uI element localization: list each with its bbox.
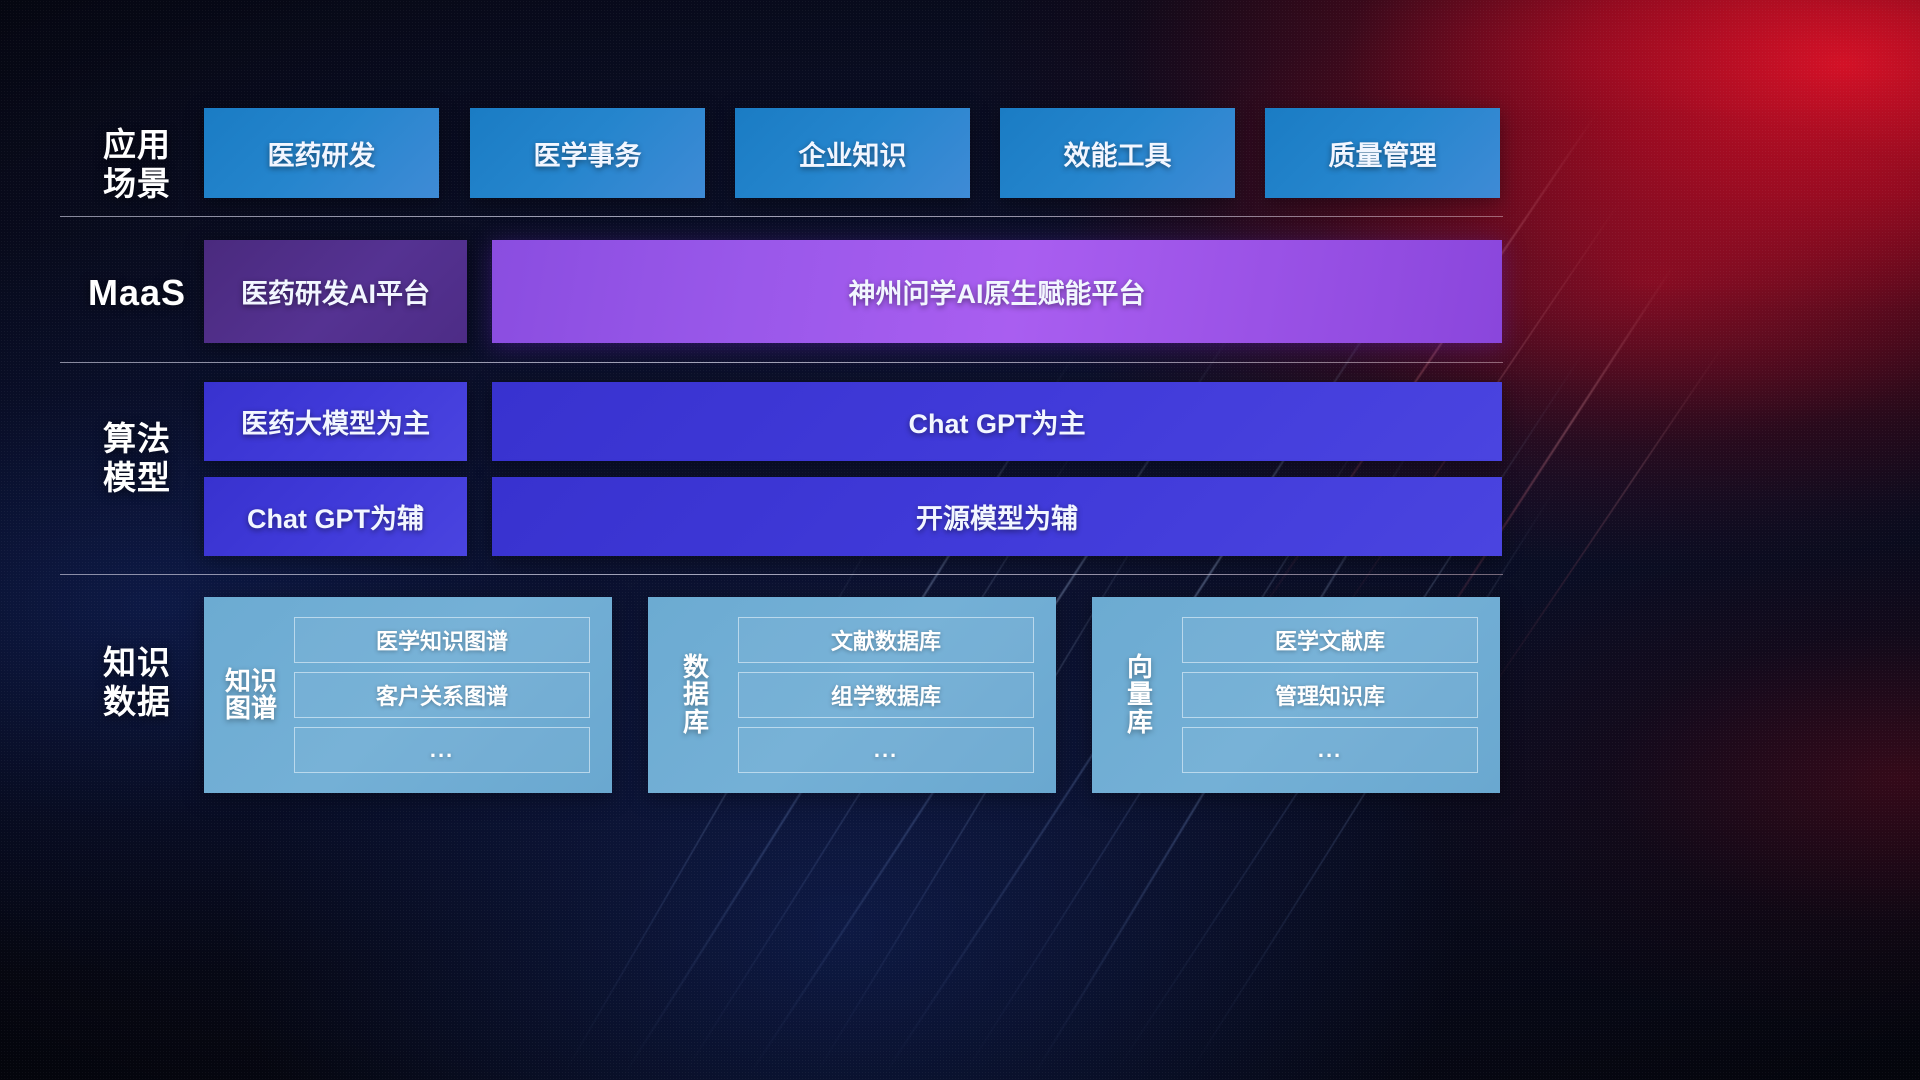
knowledge-item[interactable]: 组学数据库 — [738, 672, 1034, 718]
knowledge-group-3-label: 向量库 — [1120, 654, 1160, 735]
slide-canvas: 应用 场景 医药研发 医学事务 企业知识 效能工具 质量管理 MaaS 医药研发… — [0, 0, 1920, 1080]
scenario-box-3-label: 企业知识 — [799, 134, 907, 173]
knowledge-item[interactable]: 管理知识库 — [1182, 672, 1478, 718]
scenario-box-5[interactable]: 质量管理 — [1265, 108, 1500, 198]
knowledge-item-more[interactable]: ... — [294, 727, 590, 773]
knowledge-item-label: 客户关系图谱 — [376, 679, 508, 711]
algorithm-box-secondary-right[interactable]: 开源模型为辅 — [492, 477, 1502, 556]
knowledge-item[interactable]: 医学知识图谱 — [294, 617, 590, 663]
algorithm-box-primary-right[interactable]: Chat GPT为主 — [492, 382, 1502, 461]
knowledge-group-1-label: 知识图谱 — [220, 668, 282, 722]
knowledge-item-label: 医学文献库 — [1275, 624, 1385, 656]
knowledge-item[interactable]: 医学文献库 — [1182, 617, 1478, 663]
algorithm-box-secondary-left[interactable]: Chat GPT为辅 — [204, 477, 467, 556]
algorithm-box-primary-right-label: Chat GPT为主 — [908, 402, 1085, 441]
scenario-box-1-label: 医药研发 — [268, 134, 376, 173]
knowledge-item[interactable]: 客户关系图谱 — [294, 672, 590, 718]
knowledge-item-label: ... — [874, 737, 898, 763]
scenario-box-4[interactable]: 效能工具 — [1000, 108, 1235, 198]
algorithm-box-secondary-left-label: Chat GPT为辅 — [247, 497, 424, 536]
knowledge-group-knowledge-graph[interactable]: 知识图谱 医学知识图谱 客户关系图谱 ... — [204, 597, 612, 793]
scenario-box-3[interactable]: 企业知识 — [735, 108, 970, 198]
scenario-box-4-label: 效能工具 — [1064, 134, 1172, 173]
knowledge-group-vector-store[interactable]: 向量库 医学文献库 管理知识库 ... — [1092, 597, 1500, 793]
row-label-knowledge-data: 知识 数据 — [78, 644, 196, 722]
scenario-box-5-label: 质量管理 — [1329, 134, 1437, 173]
scenario-box-2[interactable]: 医学事务 — [470, 108, 705, 198]
scenario-box-1[interactable]: 医药研发 — [204, 108, 439, 198]
row-label-application-scenarios: 应用 场景 — [78, 126, 196, 204]
knowledge-item-label: ... — [1318, 737, 1342, 763]
maas-left-box[interactable]: 医药研发AI平台 — [204, 240, 467, 343]
divider-3 — [60, 574, 1503, 575]
knowledge-group-2-label: 数据库 — [676, 654, 716, 735]
row-label-algorithm-model: 算法 模型 — [78, 420, 196, 498]
algorithm-box-primary-left-label: 医药大模型为主 — [241, 402, 430, 441]
divider-2 — [60, 362, 1503, 363]
maas-left-box-label: 医药研发AI平台 — [241, 272, 430, 311]
knowledge-item-label: 医学知识图谱 — [376, 624, 508, 656]
knowledge-item-label: 管理知识库 — [1275, 679, 1385, 711]
knowledge-item-label: ... — [430, 737, 454, 763]
algorithm-box-primary-left[interactable]: 医药大模型为主 — [204, 382, 467, 461]
knowledge-group-2-items: 文献数据库 组学数据库 ... — [738, 617, 1034, 773]
divider-1 — [60, 216, 1503, 217]
row-label-maas: MaaS — [68, 272, 206, 314]
knowledge-item[interactable]: 文献数据库 — [738, 617, 1034, 663]
knowledge-group-1-items: 医学知识图谱 客户关系图谱 ... — [294, 617, 590, 773]
knowledge-item-more[interactable]: ... — [1182, 727, 1478, 773]
knowledge-group-3-items: 医学文献库 管理知识库 ... — [1182, 617, 1478, 773]
knowledge-item-more[interactable]: ... — [738, 727, 1034, 773]
scenario-box-2-label: 医学事务 — [534, 134, 642, 173]
knowledge-item-label: 组学数据库 — [831, 679, 941, 711]
algorithm-box-secondary-right-label: 开源模型为辅 — [916, 497, 1078, 536]
maas-platform-bar[interactable]: 神州问学AI原生赋能平台 — [492, 240, 1502, 343]
knowledge-item-label: 文献数据库 — [831, 624, 941, 656]
maas-platform-bar-label: 神州问学AI原生赋能平台 — [849, 272, 1146, 311]
knowledge-group-database[interactable]: 数据库 文献数据库 组学数据库 ... — [648, 597, 1056, 793]
